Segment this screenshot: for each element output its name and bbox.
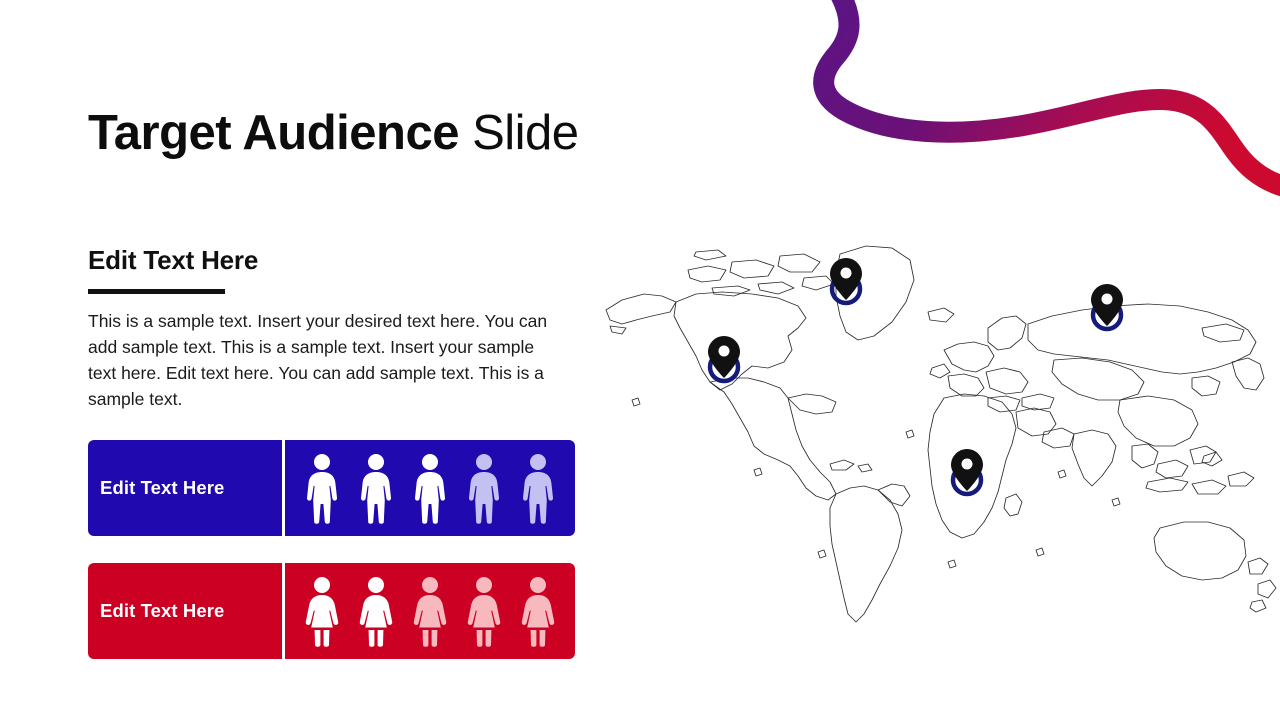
page-title: Target Audience Slide — [88, 102, 579, 164]
stat-bar-blue-label: Edit Text Here — [100, 477, 224, 499]
female-figure-icon-faded — [521, 575, 555, 647]
male-figure-icon — [413, 452, 447, 524]
map-pin-icon[interactable] — [702, 332, 746, 386]
section-heading: Edit Text Here — [88, 245, 258, 276]
stat-bar-red-label: Edit Text Here — [100, 600, 224, 622]
female-figure-icon — [305, 575, 339, 647]
ribbon-decoration — [810, 0, 1280, 200]
map-pin-icon[interactable] — [1085, 280, 1129, 334]
female-figure-icon-faded — [413, 575, 447, 647]
page-title-strong: Target Audience — [88, 106, 459, 160]
stat-bar-red-label-panel[interactable]: Edit Text Here — [88, 563, 282, 659]
male-figure-icon — [359, 452, 393, 524]
world-map-outline — [592, 232, 1280, 624]
stat-bar-red-icons-panel[interactable] — [285, 563, 575, 659]
section-heading-underline — [88, 289, 225, 294]
stat-bar-blue-icons-panel[interactable] — [285, 440, 575, 536]
map-pin-icon[interactable] — [824, 254, 868, 308]
stat-bar-red[interactable]: Edit Text Here — [88, 563, 575, 659]
male-figure-icon-faded — [521, 452, 555, 524]
stat-bar-blue[interactable]: Edit Text Here — [88, 440, 575, 536]
male-figure-icon — [305, 452, 339, 524]
female-figure-icon — [359, 575, 393, 647]
female-figure-icon-faded — [467, 575, 501, 647]
world-map — [592, 232, 1280, 624]
body-paragraph: This is a sample text. Insert your desir… — [88, 308, 548, 412]
page-title-light: Slide — [459, 106, 579, 160]
male-figure-icon-faded — [467, 452, 501, 524]
stat-bar-blue-label-panel[interactable]: Edit Text Here — [88, 440, 282, 536]
map-pin-icon[interactable] — [945, 445, 989, 499]
